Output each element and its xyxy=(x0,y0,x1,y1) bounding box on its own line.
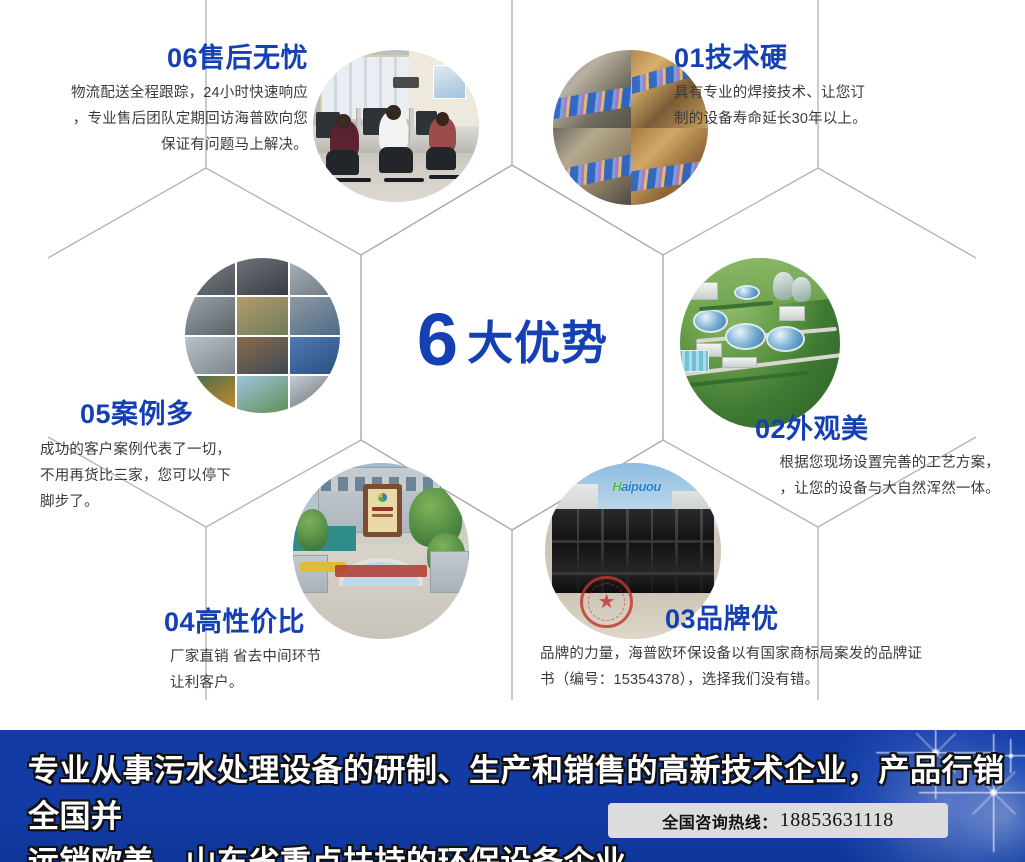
feature-title-brand: 03品牌优 xyxy=(665,605,1010,634)
feature-brand: 03品牌优 品牌的力量，海普欧环保设备以有国家商标局案发的品牌证 书（编号：15… xyxy=(540,605,1010,694)
feature-title-technology: 01技术硬 xyxy=(674,44,974,73)
feature-body-appearance: 根据您现场设置完善的工艺方案， ，让您的设备与大自然浑然一体。 xyxy=(680,451,1000,503)
feature-appearance: 02外观美 根据您现场设置完善的工艺方案， ，让您的设备与大自然浑然一体。 xyxy=(680,415,1000,503)
feature-body-brand: 品牌的力量，海普欧环保设备以有国家商标局案发的品牌证 书（编号：15354378… xyxy=(540,642,1010,694)
hotline-label: 全国咨询热线： xyxy=(662,809,778,833)
center-number: 6 xyxy=(417,298,457,381)
feature-cases: 05案例多 成功的客户案例代表了一切， 不用再货比三家，您可以停下 脚步了。 xyxy=(40,400,340,516)
hotline-box[interactable]: 全国咨询热线： 18853631118 xyxy=(608,803,948,838)
center-label-text: 大优势 xyxy=(467,317,608,369)
feature-body-value: 厂家直销 省去中间环节 让利客户。 xyxy=(170,645,430,697)
banner-slogan-line2: 远销欧美，山东省重点扶持的环保设备企业。 xyxy=(28,840,1008,862)
brand-logo: Haipuou xyxy=(598,477,675,496)
office-staff-photo xyxy=(313,50,479,202)
feature-body-technology: 具有专业的焊接技术、让您订 制的设备寿命延长30年以上。 xyxy=(674,81,974,133)
brand-logo-prefix: H xyxy=(612,479,621,494)
feature-body-cases: 成功的客户案例代表了一切， 不用再货比三家，您可以停下 脚步了。 xyxy=(40,438,340,515)
feature-body-after-sales: 物流配送全程跟踪，24小时快速响应 ，专业售后团队定期回访海普欧向您 保证有问题… xyxy=(18,81,308,158)
feature-after-sales: 06售后无忧 物流配送全程跟踪，24小时快速响应 ，专业售后团队定期回访海普欧向… xyxy=(18,44,308,159)
hotline-number: 18853631118 xyxy=(780,809,894,832)
bottom-banner: 专业从事污水处理设备的研制、生产和销售的高新技术企业，产品行销全国并 远销欧美，… xyxy=(0,730,1025,862)
feature-value: 04高性价比 厂家直销 省去中间环节 让利客户。 xyxy=(130,608,430,697)
feature-technology: 01技术硬 具有专业的焊接技术、让您订 制的设备寿命延长30年以上。 xyxy=(674,44,974,133)
feature-title-cases: 05案例多 xyxy=(80,400,340,429)
feature-title-after-sales: 06售后无忧 xyxy=(18,44,308,73)
feature-title-appearance: 02外观美 xyxy=(755,415,1000,444)
feature-title-value: 04高性价比 xyxy=(164,608,430,637)
center-headline: 6大优势 xyxy=(0,303,1025,377)
brand-logo-text: aipuou xyxy=(621,479,661,494)
